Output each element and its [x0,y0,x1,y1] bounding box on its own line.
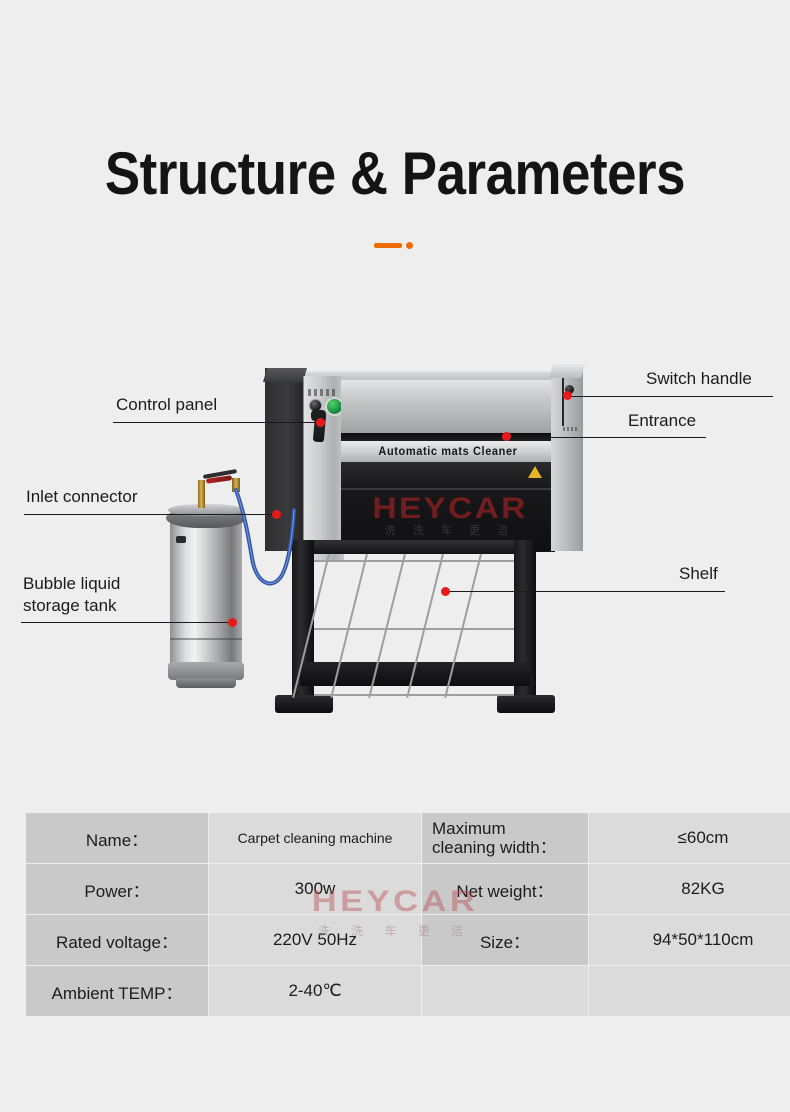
divider-bar [374,243,402,248]
callout-dot-bubble-liquid-tank [228,618,237,627]
page-title: Structure & Parameters [47,142,742,205]
specification-table: Name： Carpet cleaning machine Maximum cl… [25,812,790,1017]
callout-label-switch-handle: Switch handle [646,368,752,390]
spec-label-net-weight: Net weight： [422,864,588,914]
control-panel-label-strip [308,389,336,396]
rack-wire-v5 [444,554,482,698]
rack-wire-v2 [330,554,368,698]
rack-wire-h1 [314,560,514,562]
callout-line-control-panel [113,422,320,423]
machine-model-band: Automatic mats Cleaner [341,441,555,463]
spec-value-max-cleaning-width: ≤60cm [589,813,790,863]
callout-dot-entrance [502,432,511,441]
callout-label-shelf: Shelf [679,563,718,585]
table-row: Rated voltage： 220V 50Hz Size： 94*50*110… [26,915,790,965]
table-row: Power： 300w Net weight： 82KG [26,864,790,914]
callout-line-bubble-liquid-tank [21,622,232,623]
table-row: Ambient TEMP： 2-40℃ [26,966,790,1016]
wire-shelf-rack [322,554,510,702]
spec-label-max-cleaning-width: Maximum cleaning width： [422,813,588,863]
machine-right-tower-top [549,364,585,378]
spec-value-size: 94*50*110cm [589,915,790,965]
switch-handle-rod [562,378,564,426]
spec-value-power: 300w [209,864,421,914]
rack-wire-v3 [368,554,406,698]
spec-empty-label-cell [422,966,588,1016]
spec-value-ambient-temp: 2-40℃ [209,966,421,1016]
spec-empty-value-cell [589,966,790,1016]
spec-value-rated-voltage: 220V 50Hz [209,915,421,965]
machine-center-top [341,380,555,438]
callout-line-shelf [448,591,725,592]
rack-wire-v4 [406,554,444,698]
rack-wire-h3 [314,694,514,696]
callout-dot-control-panel [316,418,325,427]
tank-seam [170,638,242,640]
switch-handle-label-strip [563,427,577,431]
callout-label-inlet-connector: Inlet connector [26,486,138,508]
bubble-liquid-tank-foot [176,678,236,688]
blue-hose [218,486,308,606]
specification-table-body: Name： Carpet cleaning machine Maximum cl… [26,813,790,1016]
machine-band-text: Automatic mats Cleaner [378,446,517,459]
callout-label-entrance: Entrance [628,410,696,432]
machine-front-door-seam [341,488,555,490]
callout-line-inlet-connector [24,514,276,515]
spec-label-name: Name： [26,813,208,863]
spec-label-size: Size： [422,915,588,965]
spec-label-power: Power： [26,864,208,914]
divider-dot [406,242,413,249]
tank-side-valve [176,536,186,543]
product-infographic-page: Structure & Parameters Automatic mats Cl… [0,0,790,1112]
spec-label-ambient-temp: Ambient TEMP： [26,966,208,1016]
machine-brand-watermark: HEYCAR [344,492,557,526]
warning-triangle-icon [528,466,542,478]
tank-brass-valve [198,480,205,508]
spec-value-name: Carpet cleaning machine [209,813,421,863]
callout-label-bubble-liquid-tank: Bubble liquid storage tank [23,573,120,617]
table-row: Name： Carpet cleaning machine Maximum cl… [26,813,790,863]
callout-label-control-panel: Control panel [116,394,217,416]
callout-line-entrance [509,437,706,438]
rack-wire-h2 [314,628,514,630]
callout-dot-inlet-connector [272,510,281,519]
stand-top-bar [292,540,536,554]
callout-line-switch-handle [570,396,773,397]
title-divider [374,242,414,249]
spec-value-net-weight: 82KG [589,864,790,914]
callout-dot-shelf [441,587,450,596]
machine-brand-watermark-sub: 洗 洗 车 更 洁 [375,522,525,538]
callout-dot-switch-handle [563,391,572,400]
spec-label-rated-voltage: Rated voltage： [26,915,208,965]
machine-left-tower-top [263,368,307,382]
